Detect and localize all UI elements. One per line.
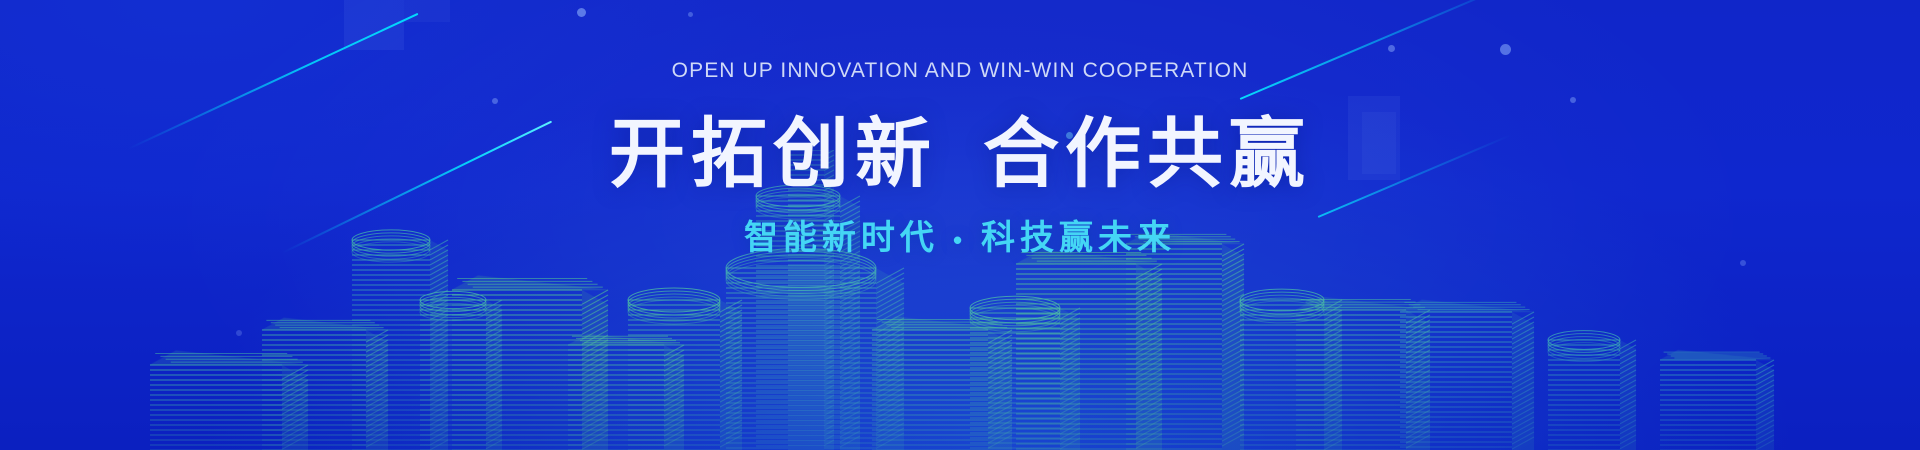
headline-part-right: 合作共赢 <box>983 112 1311 197</box>
hero-banner: OPEN UP INNOVATION AND WIN-WIN COOPERATI… <box>0 0 1920 450</box>
banner-subtitle: 智能新时代•科技赢未来 <box>0 221 1920 255</box>
subtitle-part-left: 智能新时代 <box>744 219 939 257</box>
banner-text-stack: OPEN UP INNOVATION AND WIN-WIN COOPERATI… <box>0 0 1920 255</box>
headline-part-left: 开拓创新 <box>609 112 937 197</box>
banner-headline: 开拓创新合作共赢 <box>0 115 1920 195</box>
banner-eyebrow-text: OPEN UP INNOVATION AND WIN-WIN COOPERATI… <box>0 60 1920 81</box>
subtitle-separator-dot: • <box>939 227 981 253</box>
subtitle-part-right: 科技赢未来 <box>981 219 1176 257</box>
